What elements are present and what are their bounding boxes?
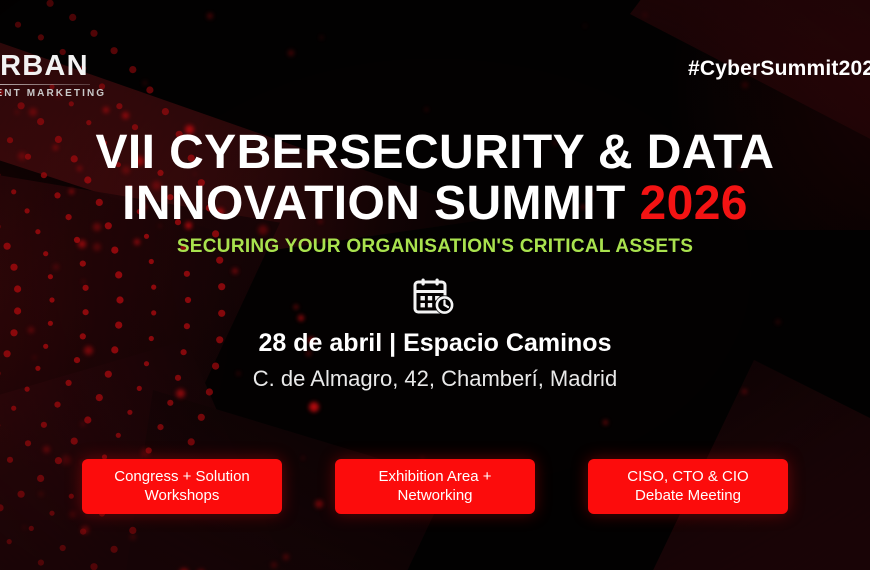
cta-label: CISO, CTO & CIODebate Meeting [627,468,748,505]
calendar-clock-icon-wrapper [0,278,870,316]
cta-label-line2: Networking [397,487,472,504]
event-hashtag: #CyberSummit2026 [688,57,870,81]
cta-label: Exhibition Area +Networking [379,468,492,505]
event-poster: URBAN EVENT MARKETING #CyberSummit2026 V… [0,0,870,570]
cta-button-congress-workshops[interactable]: Congress + SolutionWorkshops [82,459,282,514]
cta-button-row: Congress + SolutionWorkshops Exhibition … [0,459,870,514]
cta-label-line1: Congress + Solution [114,468,250,485]
cta-label-line1: Exhibition Area + [379,468,492,485]
cta-label: Congress + SolutionWorkshops [114,468,250,505]
brand-logo: URBAN EVENT MARKETING [0,52,108,99]
event-date-venue: 28 de abril | Espacio Caminos [0,329,870,358]
title-line-2: INNOVATION SUMMIT 2026 [0,178,870,229]
cta-label-line1: CISO, CTO & CIO [627,468,748,485]
cta-label-line2: Workshops [145,487,220,504]
cta-button-exhibition-networking[interactable]: Exhibition Area +Networking [335,459,535,514]
title-line-2-text: INNOVATION SUMMIT [122,177,639,230]
poster-title: VII CYBERSECURITY & DATA INNOVATION SUMM… [0,127,870,230]
calendar-clock-icon [413,278,457,316]
event-address: C. de Almagro, 42, Chamberí, Madrid [0,366,870,392]
poster-subtitle: SECURING YOUR ORGANISATION'S CRITICAL AS… [0,236,870,258]
cta-label-line2: Debate Meeting [635,487,741,504]
title-year: 2026 [640,177,748,230]
cta-button-ciso-cto-cio-debate[interactable]: CISO, CTO & CIODebate Meeting [588,459,788,514]
logo-wordmark: URBAN [0,52,108,81]
logo-tagline: EVENT MARKETING [0,88,108,99]
logo-divider [0,84,90,85]
title-line-1: VII CYBERSECURITY & DATA [0,127,870,178]
